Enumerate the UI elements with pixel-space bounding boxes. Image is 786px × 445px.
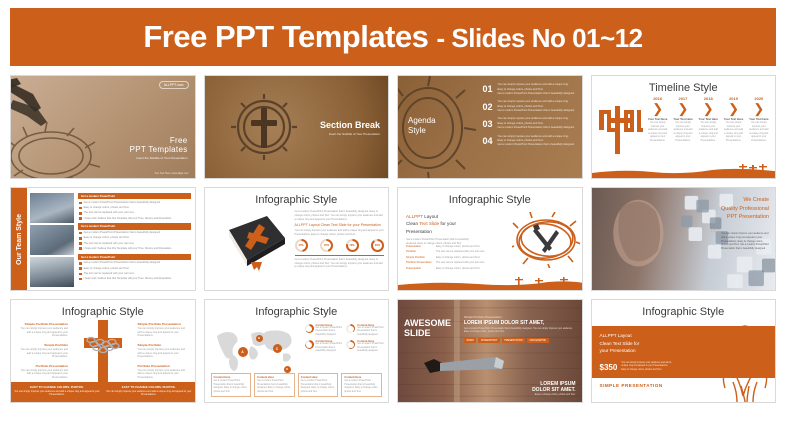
awesome-title-line-1: AWESOME bbox=[404, 318, 451, 328]
headline-part-b: Text Slide bbox=[419, 221, 439, 226]
slide-thumbnail-quality-presentation[interactable]: We Create Quality Professional PPT Prese… bbox=[591, 187, 777, 291]
team-photo bbox=[30, 225, 74, 255]
nails-headline-block: ALLPPT Layout Clean Text Slide for your … bbox=[406, 213, 476, 246]
team-bullet-text: Get a modern PowerPoint Presentation tha… bbox=[84, 231, 161, 235]
awesome-title-line-2: SLIDE bbox=[404, 328, 451, 338]
key-value-row: PortfolioThe text can be replaced with y… bbox=[406, 250, 498, 253]
crown-of-thorns-with-nails-illustration bbox=[512, 212, 580, 268]
agenda-item: 02 You can simply impress your audience … bbox=[483, 100, 578, 113]
quality-line-1: We Create bbox=[721, 196, 769, 205]
crown-cross-illustration bbox=[231, 94, 297, 160]
timeline-step-body: You can simply impress your audience and… bbox=[671, 121, 695, 143]
price-block: $350 You can simply impress your audienc… bbox=[600, 362, 674, 372]
content-box-head: Content Here bbox=[301, 376, 336, 379]
quality-body-text: You can simply impress your audience and… bbox=[721, 232, 769, 251]
bullet-icon bbox=[79, 237, 82, 240]
slide-thumbnail-infographic-world-map[interactable]: Infographic Style A B C D Content HereGe… bbox=[204, 299, 390, 403]
bullet-icon bbox=[79, 247, 82, 250]
band-line-2: Clean Text Slide for bbox=[600, 340, 640, 348]
portfolio-item: Portfolio PresentationYou can simply imp… bbox=[16, 364, 68, 380]
awesome-headline: LOREM IPSUM DOLOR SIT AMET, bbox=[464, 320, 577, 326]
timeline-step-body: You can simply impress your audience and… bbox=[646, 121, 670, 143]
team-bullet-text: I hope and I believe that this Template … bbox=[84, 247, 172, 251]
map-marker-c[interactable]: C bbox=[273, 344, 282, 353]
donut-ring bbox=[346, 324, 355, 333]
bible-headline: ALLPPT Layout Clean Text Slide for your … bbox=[295, 223, 385, 227]
title-line-1: Free bbox=[130, 136, 188, 145]
team-bullet-text: I hope and I believe that this Template … bbox=[84, 277, 172, 281]
page-header-banner: Free PPT Templates - Slides No 01~12 bbox=[10, 8, 776, 66]
calvary-hill-silhouette bbox=[398, 277, 583, 290]
bullet-icon bbox=[79, 262, 82, 265]
agenda-title-line-1: Agenda bbox=[408, 116, 436, 126]
bullet-icon bbox=[79, 202, 82, 205]
slide-thumbnail-infographic-nails[interactable]: Infographic Style ALLPPT Layout Clean Te… bbox=[397, 187, 583, 291]
bottom-line-2: DOLOR SIT AMET. bbox=[532, 387, 575, 393]
agenda-item: 04 You can simply impress your audience … bbox=[483, 135, 578, 148]
timeline-step: 2018 ❯ Your Text Here You can simply imp… bbox=[696, 96, 720, 143]
value-text: The text can be replaced with your own t… bbox=[436, 261, 498, 264]
value-text: Easy to change colors, photos and Text. bbox=[436, 245, 498, 248]
cross-with-chain-illustration bbox=[80, 320, 126, 384]
title-block: Free PPT Templates Insert the Subtitle o… bbox=[130, 136, 188, 160]
headline-line-2: Clean Text Slide for your bbox=[406, 220, 476, 227]
timeline-step-list: 2016 ❯ Your Text Here You can simply imp… bbox=[646, 96, 772, 143]
timeline-step: 2020 ❯ Your Text Here You can simply imp… bbox=[747, 96, 771, 143]
section-break-title: Section Break bbox=[320, 120, 380, 130]
page-title: Free PPT Templates - Slides No 01~12 bbox=[143, 19, 642, 55]
portfolio-item-head: Portfolio Presentation bbox=[16, 364, 68, 368]
portfolio-item-body: You can simply impress your audience and… bbox=[16, 327, 68, 338]
team-photo bbox=[30, 257, 74, 287]
left-item-list: Simple Portfolio PresentationYou can sim… bbox=[16, 322, 68, 385]
percentage-donut: 79% bbox=[346, 239, 359, 252]
timeline-step: 2016 ❯ Your Text Here You can simply imp… bbox=[646, 96, 670, 143]
map-marker-label: C bbox=[276, 347, 278, 351]
bullet-icon bbox=[79, 242, 82, 245]
slide-footer: Your Text Here | www.allppt.com bbox=[154, 172, 188, 175]
key-value-row: PresentationEasy to change colors, photo… bbox=[406, 267, 498, 270]
quality-line-2: Quality Professional bbox=[721, 205, 769, 214]
map-donut-item: Content HereGet a modern PowerPoint Pres… bbox=[305, 324, 343, 337]
map-marker-label: D bbox=[286, 368, 288, 371]
chevron-right-icon: ❯ bbox=[721, 102, 745, 115]
team-bullet: I hope and I believe that this Template … bbox=[78, 247, 191, 251]
agenda-item-number: 01 bbox=[483, 84, 498, 94]
team-bullet: Easy to change colors, photos and Text. bbox=[78, 236, 191, 240]
key-label: Presentation bbox=[406, 245, 436, 248]
portfolio-item-head: Simple Portfolio Presentation bbox=[16, 322, 68, 326]
our-team-side-title-text: Our Team Style bbox=[16, 214, 23, 265]
team-bullet-text: The text can be replaced with your own t… bbox=[84, 211, 135, 215]
bullet-icon bbox=[79, 278, 82, 281]
portfolio-item: Simple PortfolioYou can simply impress y… bbox=[16, 343, 68, 359]
bullet-icon bbox=[79, 207, 82, 210]
team-block: Get a modern PowerPoint Get a modern Pow… bbox=[78, 254, 191, 281]
tag-button[interactable]: INFOGRAPHIC bbox=[527, 338, 549, 343]
team-block: Get a modern PowerPoint Get a modern Pow… bbox=[78, 193, 191, 220]
allppt-logo: ALLPPT.com bbox=[159, 81, 189, 89]
portfolio-item: Portfolio PresentationYou can simply imp… bbox=[138, 364, 190, 380]
portfolio-item: Simple Portfolio PresentationYou can sim… bbox=[138, 322, 190, 338]
chevron-right-icon: ❯ bbox=[696, 102, 720, 115]
timeline-step-body: You can simply impress your audience and… bbox=[696, 121, 720, 143]
value-text: Easy to change colors, photos and Text. bbox=[436, 267, 498, 270]
slide-thumbnail-title-slide[interactable]: ALLPPT.com Free PPT Templates Insert the… bbox=[10, 75, 196, 179]
team-bullet: The text can be replaced with your own t… bbox=[78, 242, 191, 246]
team-photo-list bbox=[30, 193, 74, 289]
slide-title: Infographic Style bbox=[592, 300, 776, 318]
footer-head: EASY TO CHANGE COLORS, PHOTOS. bbox=[11, 385, 103, 389]
bullet-icon bbox=[79, 212, 82, 215]
page-title-main: Free PPT Templates bbox=[143, 19, 428, 54]
footer-head: EASY TO CHANGE COLORS, PHOTOS. bbox=[103, 385, 195, 389]
map-marker-label: A bbox=[241, 350, 243, 354]
percentage-donut-label: 90% bbox=[373, 241, 382, 250]
headline-line-1: ALLPPT Layout bbox=[406, 213, 476, 220]
template-gallery-page: Free PPT Templates - Slides No 01~12 bbox=[0, 0, 786, 445]
bible-book-illustration bbox=[221, 212, 287, 274]
agenda-item-line-3: Get a modern PowerPoint Presentation tha… bbox=[498, 92, 578, 96]
agenda-item-line-1: You can simply impress your audience and… bbox=[498, 135, 578, 139]
content-box: Content HereGet a modern PowerPoint Pres… bbox=[254, 373, 295, 397]
key-label: Portfolio Presentation bbox=[406, 261, 436, 264]
team-bullet-text: Easy to change colors, photos and Text. bbox=[84, 267, 130, 271]
tag-button[interactable]: WORK bbox=[464, 338, 476, 343]
agenda-item-line-1: You can simply impress your audience and… bbox=[498, 100, 578, 104]
quality-line-3: PPT Presentation bbox=[721, 213, 769, 222]
cta-label: SIMPLE PRESENTATION bbox=[600, 383, 663, 388]
agenda-item-line-3: Get a modern PowerPoint Presentation tha… bbox=[498, 109, 578, 113]
section-break-text: Section Break Insert the Subtitle of You… bbox=[320, 120, 380, 136]
slide-thumbnail-infographic-cross-chain[interactable]: Infographic Style Simple Portfolio Prese… bbox=[10, 299, 196, 403]
awesome-bottom-block: LOREM IPSUM DOLOR SIT AMET. Easy to chan… bbox=[532, 381, 575, 396]
slide-thumbnail-timeline-style[interactable]: Timeline Style 2016 ❯ Your Text Here You… bbox=[591, 75, 777, 179]
slide-title: Infographic Style bbox=[398, 188, 582, 206]
bullet-icon bbox=[79, 217, 82, 220]
timeline-step: 2019 ❯ Your Text Here You can simply imp… bbox=[721, 96, 745, 143]
donut-body: Get a modern PowerPoint Presentation tha… bbox=[357, 327, 384, 337]
portfolio-item: Simple PortfolioYou can simply impress y… bbox=[138, 343, 190, 359]
tag-button[interactable]: POWERPOINT bbox=[478, 338, 499, 343]
quality-heading-block: We Create Quality Professional PPT Prese… bbox=[721, 196, 769, 222]
awesome-body: Get a modern PowerPoint Presentation tha… bbox=[464, 328, 577, 335]
content-box: Content HereGet a modern PowerPoint Pres… bbox=[298, 373, 339, 397]
map-marker-label: B bbox=[258, 337, 260, 340]
map-marker-b[interactable]: B bbox=[256, 335, 263, 342]
key-label: Simple Portfolio bbox=[406, 256, 436, 259]
chevron-right-icon: ❯ bbox=[671, 102, 695, 115]
portfolio-item-body: You can simply impress your audience and… bbox=[138, 348, 190, 359]
price-body: You can simply impress your audience and… bbox=[621, 362, 673, 372]
bottom-sub: Easy to change colors, photos and Text. bbox=[532, 394, 575, 396]
awesome-title: AWESOME SLIDE bbox=[404, 318, 451, 339]
percentage-donut: 45% bbox=[320, 239, 333, 252]
awesome-tag-list: WORK POWERPOINT PRESENTATION INFOGRAPHIC bbox=[464, 338, 577, 343]
slide-thumbnail-awesome-slide[interactable]: AWESOME SLIDE Simple Portfolio Presentat… bbox=[397, 299, 583, 403]
headline-line-3: Presentation bbox=[406, 228, 476, 235]
bullet-icon bbox=[79, 273, 82, 276]
value-text: Easy to change colors, photos and Text. bbox=[436, 256, 498, 259]
value-text: The text can be replaced with your own t… bbox=[436, 250, 498, 253]
map-content-box-list: Content HereGet a modern PowerPoint Pres… bbox=[211, 373, 383, 397]
slide-title: Infographic Style bbox=[11, 300, 195, 318]
team-bullet: I hope and I believe that this Template … bbox=[78, 217, 191, 221]
team-bullet-text: The text can be replaced with your own t… bbox=[84, 242, 135, 246]
jesus-face-illustration bbox=[717, 320, 773, 402]
map-donut-item: Content HereGet a modern PowerPoint Pres… bbox=[346, 340, 384, 353]
bible-footer: Get a modern PowerPoint Presentation tha… bbox=[295, 255, 385, 269]
portfolio-item-head: Simple Portfolio bbox=[16, 343, 68, 347]
portfolio-item-head: Simple Portfolio bbox=[138, 343, 190, 347]
key-label: Portfolio bbox=[406, 250, 436, 253]
tag-button[interactable]: PRESENTATION bbox=[502, 338, 525, 343]
team-bullet: Get a modern PowerPoint Presentation tha… bbox=[78, 261, 191, 265]
team-bullet: Easy to change colors, photos and Text. bbox=[78, 206, 191, 210]
footer-cell: EASY TO CHANGE COLORS, PHOTOS.You can si… bbox=[11, 382, 103, 402]
content-box-body: Get a modern PowerPoint Presentation tha… bbox=[214, 380, 249, 394]
agenda-item-number: 04 bbox=[483, 136, 498, 146]
headline-part-c: for your bbox=[439, 221, 456, 226]
donut-ring bbox=[305, 324, 314, 333]
map-donut-item: Content HereGet a modern PowerPoint Pres… bbox=[305, 340, 343, 353]
slide-title: Infographic Style bbox=[205, 300, 389, 318]
content-box-head: Content Here bbox=[257, 376, 292, 379]
price-value: $350 bbox=[600, 363, 618, 372]
section-break-subtitle: Insert the Subtitle of Your Presentation bbox=[320, 132, 380, 136]
team-bullet: Get a modern PowerPoint Presentation tha… bbox=[78, 231, 191, 235]
our-team-side-title: Our Team Style bbox=[11, 188, 27, 290]
map-marker-a[interactable]: A bbox=[238, 347, 248, 357]
donut-body: Get a modern PowerPoint Presentation tha… bbox=[357, 343, 384, 353]
agenda-item-list: 01 You can simply impress your audience … bbox=[483, 83, 578, 152]
key-value-row: Portfolio PresentationThe text can be re… bbox=[406, 261, 498, 264]
awesome-content: Simple Portfolio Presentation LOREM IPSU… bbox=[464, 316, 577, 343]
world-map-illustration bbox=[213, 326, 299, 372]
team-block-bar: Get a modern PowerPoint bbox=[78, 223, 191, 229]
headline-brand: ALLPPT bbox=[406, 214, 423, 219]
team-bullet-text: Easy to change colors, photos and Text. bbox=[84, 206, 130, 210]
slide-thumbnail-grid: ALLPPT.com Free PPT Templates Insert the… bbox=[10, 75, 776, 403]
title-line-2: PPT Templates bbox=[130, 145, 188, 154]
headline-part-a: Clean bbox=[406, 221, 419, 226]
percentage-donut: 90% bbox=[371, 239, 384, 252]
headline-rest: Layout bbox=[423, 214, 438, 219]
footer-cell: EASY TO CHANGE COLORS, PHOTOS.You can si… bbox=[103, 382, 195, 402]
agenda-item-line-3: Get a modern PowerPoint Presentation tha… bbox=[498, 126, 578, 130]
team-photo bbox=[30, 193, 74, 223]
agenda-item: 01 You can simply impress your audience … bbox=[483, 83, 578, 96]
team-bullet: Easy to change colors, photos and Text. bbox=[78, 267, 191, 271]
percentage-donut: 47% bbox=[295, 239, 308, 252]
agenda-item-number: 02 bbox=[483, 102, 498, 112]
key-value-row: Simple PortfolioEasy to change colors, p… bbox=[406, 256, 498, 259]
content-box-body: Get a modern PowerPoint Presentation tha… bbox=[301, 380, 336, 394]
page-title-sub: - Slides No 01~12 bbox=[437, 23, 643, 53]
right-item-list: Simple Portfolio PresentationYou can sim… bbox=[138, 322, 190, 385]
team-bullet: I hope and I believe that this Template … bbox=[78, 277, 191, 281]
portfolio-item-head: Portfolio Presentation bbox=[138, 364, 190, 368]
map-donut-item: Content HereGet a modern PowerPoint Pres… bbox=[346, 324, 384, 337]
team-bullet: The text can be replaced with your own t… bbox=[78, 272, 191, 276]
percentage-donut-label: 45% bbox=[322, 241, 331, 250]
team-bullet: The text can be replaced with your own t… bbox=[78, 211, 191, 215]
agenda-item-number: 03 bbox=[483, 119, 498, 129]
band-line-3: your Presentation bbox=[600, 347, 640, 355]
timeline-step-body: You can simply impress your audience and… bbox=[747, 121, 771, 143]
bible-intro: Get a modern PowerPoint Presentation tha… bbox=[295, 210, 385, 221]
content-box-body: Get a modern PowerPoint Presentation tha… bbox=[257, 380, 292, 394]
title-subtitle: Insert the Subtitle of Your Presentation bbox=[130, 156, 188, 160]
percentage-donut-label: 47% bbox=[297, 241, 306, 250]
content-box-head: Content Here bbox=[214, 376, 249, 379]
key-value-row: PresentationEasy to change colors, photo… bbox=[406, 245, 498, 248]
agenda-item-line-3: Get a modern PowerPoint Presentation tha… bbox=[498, 143, 578, 147]
nail-in-wood-illustration bbox=[424, 355, 508, 377]
bullet-icon bbox=[79, 232, 82, 235]
percentage-donut-list: 47% 45% 79% 90% bbox=[295, 239, 385, 252]
team-bullet: Get a modern PowerPoint Presentation tha… bbox=[78, 201, 191, 205]
bullet-icon bbox=[79, 267, 82, 270]
donut-ring bbox=[346, 340, 355, 349]
content-box-head: Content Here bbox=[344, 376, 379, 379]
footer-body: You can simply impress your audience and… bbox=[103, 390, 195, 397]
key-label: Presentation bbox=[406, 267, 436, 270]
content-box: Content HereGet a modern PowerPoint Pres… bbox=[341, 373, 382, 397]
donut-body: Get a modern PowerPoint Presentation tha… bbox=[316, 327, 343, 337]
footer-bar: EASY TO CHANGE COLORS, PHOTOS.You can si… bbox=[11, 382, 195, 402]
price-band-text: ALLPPT Layout Clean Text Slide for your … bbox=[600, 332, 640, 355]
slide-title: Timeline Style bbox=[592, 76, 776, 94]
agenda-item: 03 You can simply impress your audience … bbox=[483, 117, 578, 130]
portfolio-item-body: You can simply impress your audience and… bbox=[16, 348, 68, 359]
nails-key-value-list: PresentationEasy to change colors, photo… bbox=[406, 245, 498, 272]
slide-thumbnail-our-team-style[interactable]: Our Team Style Get a modern PowerPoint G… bbox=[10, 187, 196, 291]
bible-content: Get a modern PowerPoint Presentation tha… bbox=[295, 210, 385, 271]
agenda-item-line-1: You can simply impress your audience and… bbox=[498, 83, 578, 87]
content-box: Content HereGet a modern PowerPoint Pres… bbox=[211, 373, 252, 397]
awesome-kicker: Simple Portfolio Presentation bbox=[464, 316, 577, 319]
portfolio-item: Simple Portfolio PresentationYou can sim… bbox=[16, 322, 68, 338]
chevron-right-icon: ❯ bbox=[646, 102, 670, 115]
agenda-item-line-1: You can simply impress your audience and… bbox=[498, 117, 578, 121]
slide-thumbnail-infographic-bible[interactable]: Infographic Style Get a modern PowerPoin… bbox=[204, 187, 390, 291]
quote-mark-icon: “ bbox=[710, 230, 717, 240]
portfolio-item-body: You can simply impress your audience and… bbox=[138, 327, 190, 338]
map-marker-d[interactable]: D bbox=[284, 366, 291, 373]
percentage-donut-label: 79% bbox=[348, 241, 357, 250]
portfolio-item-head: Simple Portfolio Presentation bbox=[138, 322, 190, 326]
team-block-bar: Get a modern PowerPoint bbox=[78, 254, 191, 260]
team-block: Get a modern PowerPoint Get a modern Pow… bbox=[78, 223, 191, 250]
jesus-word-art bbox=[599, 104, 643, 156]
bible-sub: You can simply impress your audience and… bbox=[295, 229, 385, 237]
donut-ring bbox=[305, 340, 314, 349]
slide-thumbnail-section-break[interactable]: Section Break Insert the Subtitle of You… bbox=[204, 75, 390, 179]
footer-body: You can simply impress your audience and… bbox=[11, 390, 103, 397]
slide-title: Infographic Style bbox=[205, 188, 389, 206]
slide-thumbnail-infographic-price[interactable]: Infographic Style ALLPPT Layout Clean Te… bbox=[591, 299, 777, 403]
donut-body: Get a modern PowerPoint Presentation tha… bbox=[316, 343, 343, 353]
band-line-1: ALLPPT Layout bbox=[600, 332, 640, 340]
team-bullet-text: I hope and I believe that this Template … bbox=[84, 217, 172, 221]
portfolio-item-body: You can simply impress your audience and… bbox=[16, 369, 68, 380]
chevron-right-icon: ❯ bbox=[747, 102, 771, 115]
timeline-step-body: You can simply impress your audience and… bbox=[721, 121, 745, 143]
portfolio-item-body: You can simply impress your audience and… bbox=[138, 369, 190, 380]
calvary-hill-silhouette bbox=[592, 164, 777, 178]
team-bullet-text: Easy to change colors, photos and Text. bbox=[84, 236, 130, 240]
agenda-title-line-2: Style bbox=[408, 126, 436, 136]
team-bullet-text: Get a modern PowerPoint Presentation tha… bbox=[84, 201, 161, 205]
slide-thumbnail-agenda-style[interactable]: Agenda Style 01 You can simply impress y… bbox=[397, 75, 583, 179]
content-box-body: Get a modern PowerPoint Presentation tha… bbox=[344, 380, 379, 394]
team-bullet-text: Get a modern PowerPoint Presentation tha… bbox=[84, 261, 161, 265]
team-block-bar: Get a modern PowerPoint bbox=[78, 193, 191, 199]
team-block-list: Get a modern PowerPoint Get a modern Pow… bbox=[78, 193, 191, 284]
crown-of-thorns-illustration bbox=[10, 116, 125, 179]
timeline-step: 2017 ❯ Your Text Here You can simply imp… bbox=[671, 96, 695, 143]
team-bullet-text: The text can be replaced with your own t… bbox=[84, 272, 135, 276]
map-donut-list: Content HereGet a modern PowerPoint Pres… bbox=[305, 324, 385, 354]
agenda-title: Agenda Style bbox=[408, 116, 436, 136]
